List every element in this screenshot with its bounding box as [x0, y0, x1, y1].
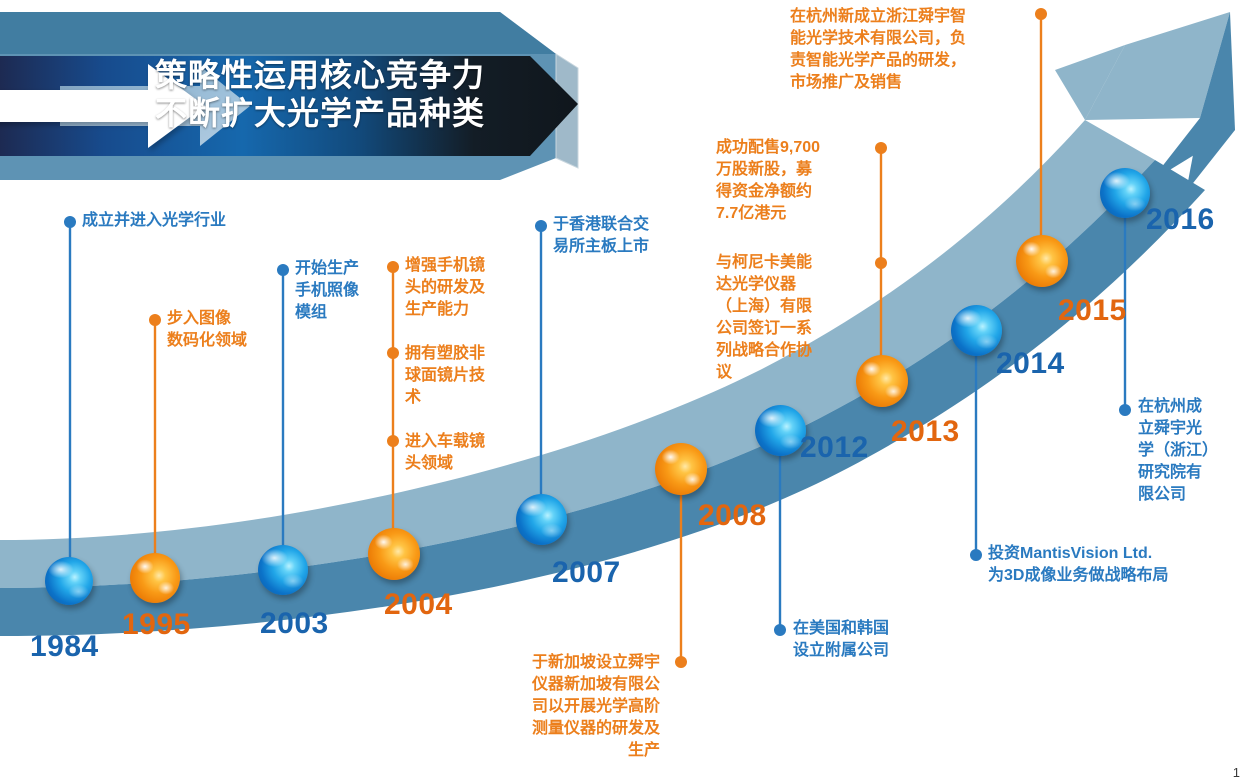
milestone-node-1984[interactable] — [45, 557, 93, 605]
year-label-1984: 1984 — [30, 630, 99, 664]
year-label-2012: 2012 — [800, 431, 869, 465]
milestone-node-2014[interactable] — [951, 305, 1002, 356]
callout-2003: 开始生产 手机照像 模组 — [295, 258, 390, 324]
milestone-node-2007[interactable] — [516, 494, 567, 545]
callout-2008: 于新加坡设立舜宇 仪器新加坡有限公 司以开展光学高阶 测量仪器的研发及 生产 — [460, 652, 660, 762]
callout-2016: 在杭州成 立舜宇光 学（浙江） 研究院有 限公司 — [1138, 396, 1238, 506]
callout-2013b: 与柯尼卡美能 达光学仪器 （上海）有限 公司签订一系 列战略合作协 议 — [716, 252, 862, 384]
year-label-2015: 2015 — [1058, 294, 1127, 328]
year-label-2016: 2016 — [1146, 203, 1215, 237]
milestone-node-2008[interactable] — [655, 443, 707, 495]
timeline-slide: 1984 1995 2003 2004 2007 2008 2012 2013 … — [0, 0, 1246, 782]
callout-2015: 在杭州新成立浙江舜宇智 能光学技术有限公司，负 责智能光学产品的研发， 市场推广… — [790, 6, 1030, 94]
title-banner: 策略性运用核心竞争力 不断扩大光学产品种类 — [0, 8, 660, 188]
callout-1984: 成立并进入光学行业 — [82, 210, 312, 232]
year-label-2007: 2007 — [552, 556, 621, 590]
year-label-2013: 2013 — [891, 415, 960, 449]
callout-2013a: 成功配售9,700 万股新股，募 得资金净额约 7.7亿港元 — [716, 137, 862, 225]
milestone-node-2013[interactable] — [856, 355, 908, 407]
milestone-node-1995[interactable] — [130, 553, 180, 603]
callout-2004c: 进入车载镜 头领域 — [405, 431, 510, 475]
banner-title: 策略性运用核心竞争力 不断扩大光学产品种类 — [155, 56, 575, 132]
page-number: 1 — [1233, 765, 1240, 780]
callout-2014: 投资MantisVision Ltd. 为3D成像业务做战略布局 — [988, 543, 1238, 587]
callout-2012: 在美国和韩国 设立附属公司 — [793, 618, 953, 662]
year-label-2014: 2014 — [996, 347, 1065, 381]
milestone-node-2004[interactable] — [368, 528, 420, 580]
year-label-2008: 2008 — [698, 499, 767, 533]
callout-1995: 步入图像 数码化领域 — [167, 308, 287, 352]
callout-2007: 于香港联合交 易所主板上市 — [553, 214, 693, 258]
milestone-node-2003[interactable] — [258, 545, 308, 595]
milestone-node-2012[interactable] — [755, 405, 806, 456]
year-label-1995: 1995 — [122, 608, 191, 642]
year-label-2004: 2004 — [384, 588, 453, 622]
callout-2004b: 拥有塑胶非 球面镜片技 术 — [405, 343, 510, 409]
year-label-2003: 2003 — [260, 607, 329, 641]
milestone-node-2015[interactable] — [1016, 235, 1068, 287]
milestone-node-2016[interactable] — [1100, 168, 1150, 218]
callout-2004a: 增强手机镜 头的研发及 生产能力 — [405, 255, 510, 321]
